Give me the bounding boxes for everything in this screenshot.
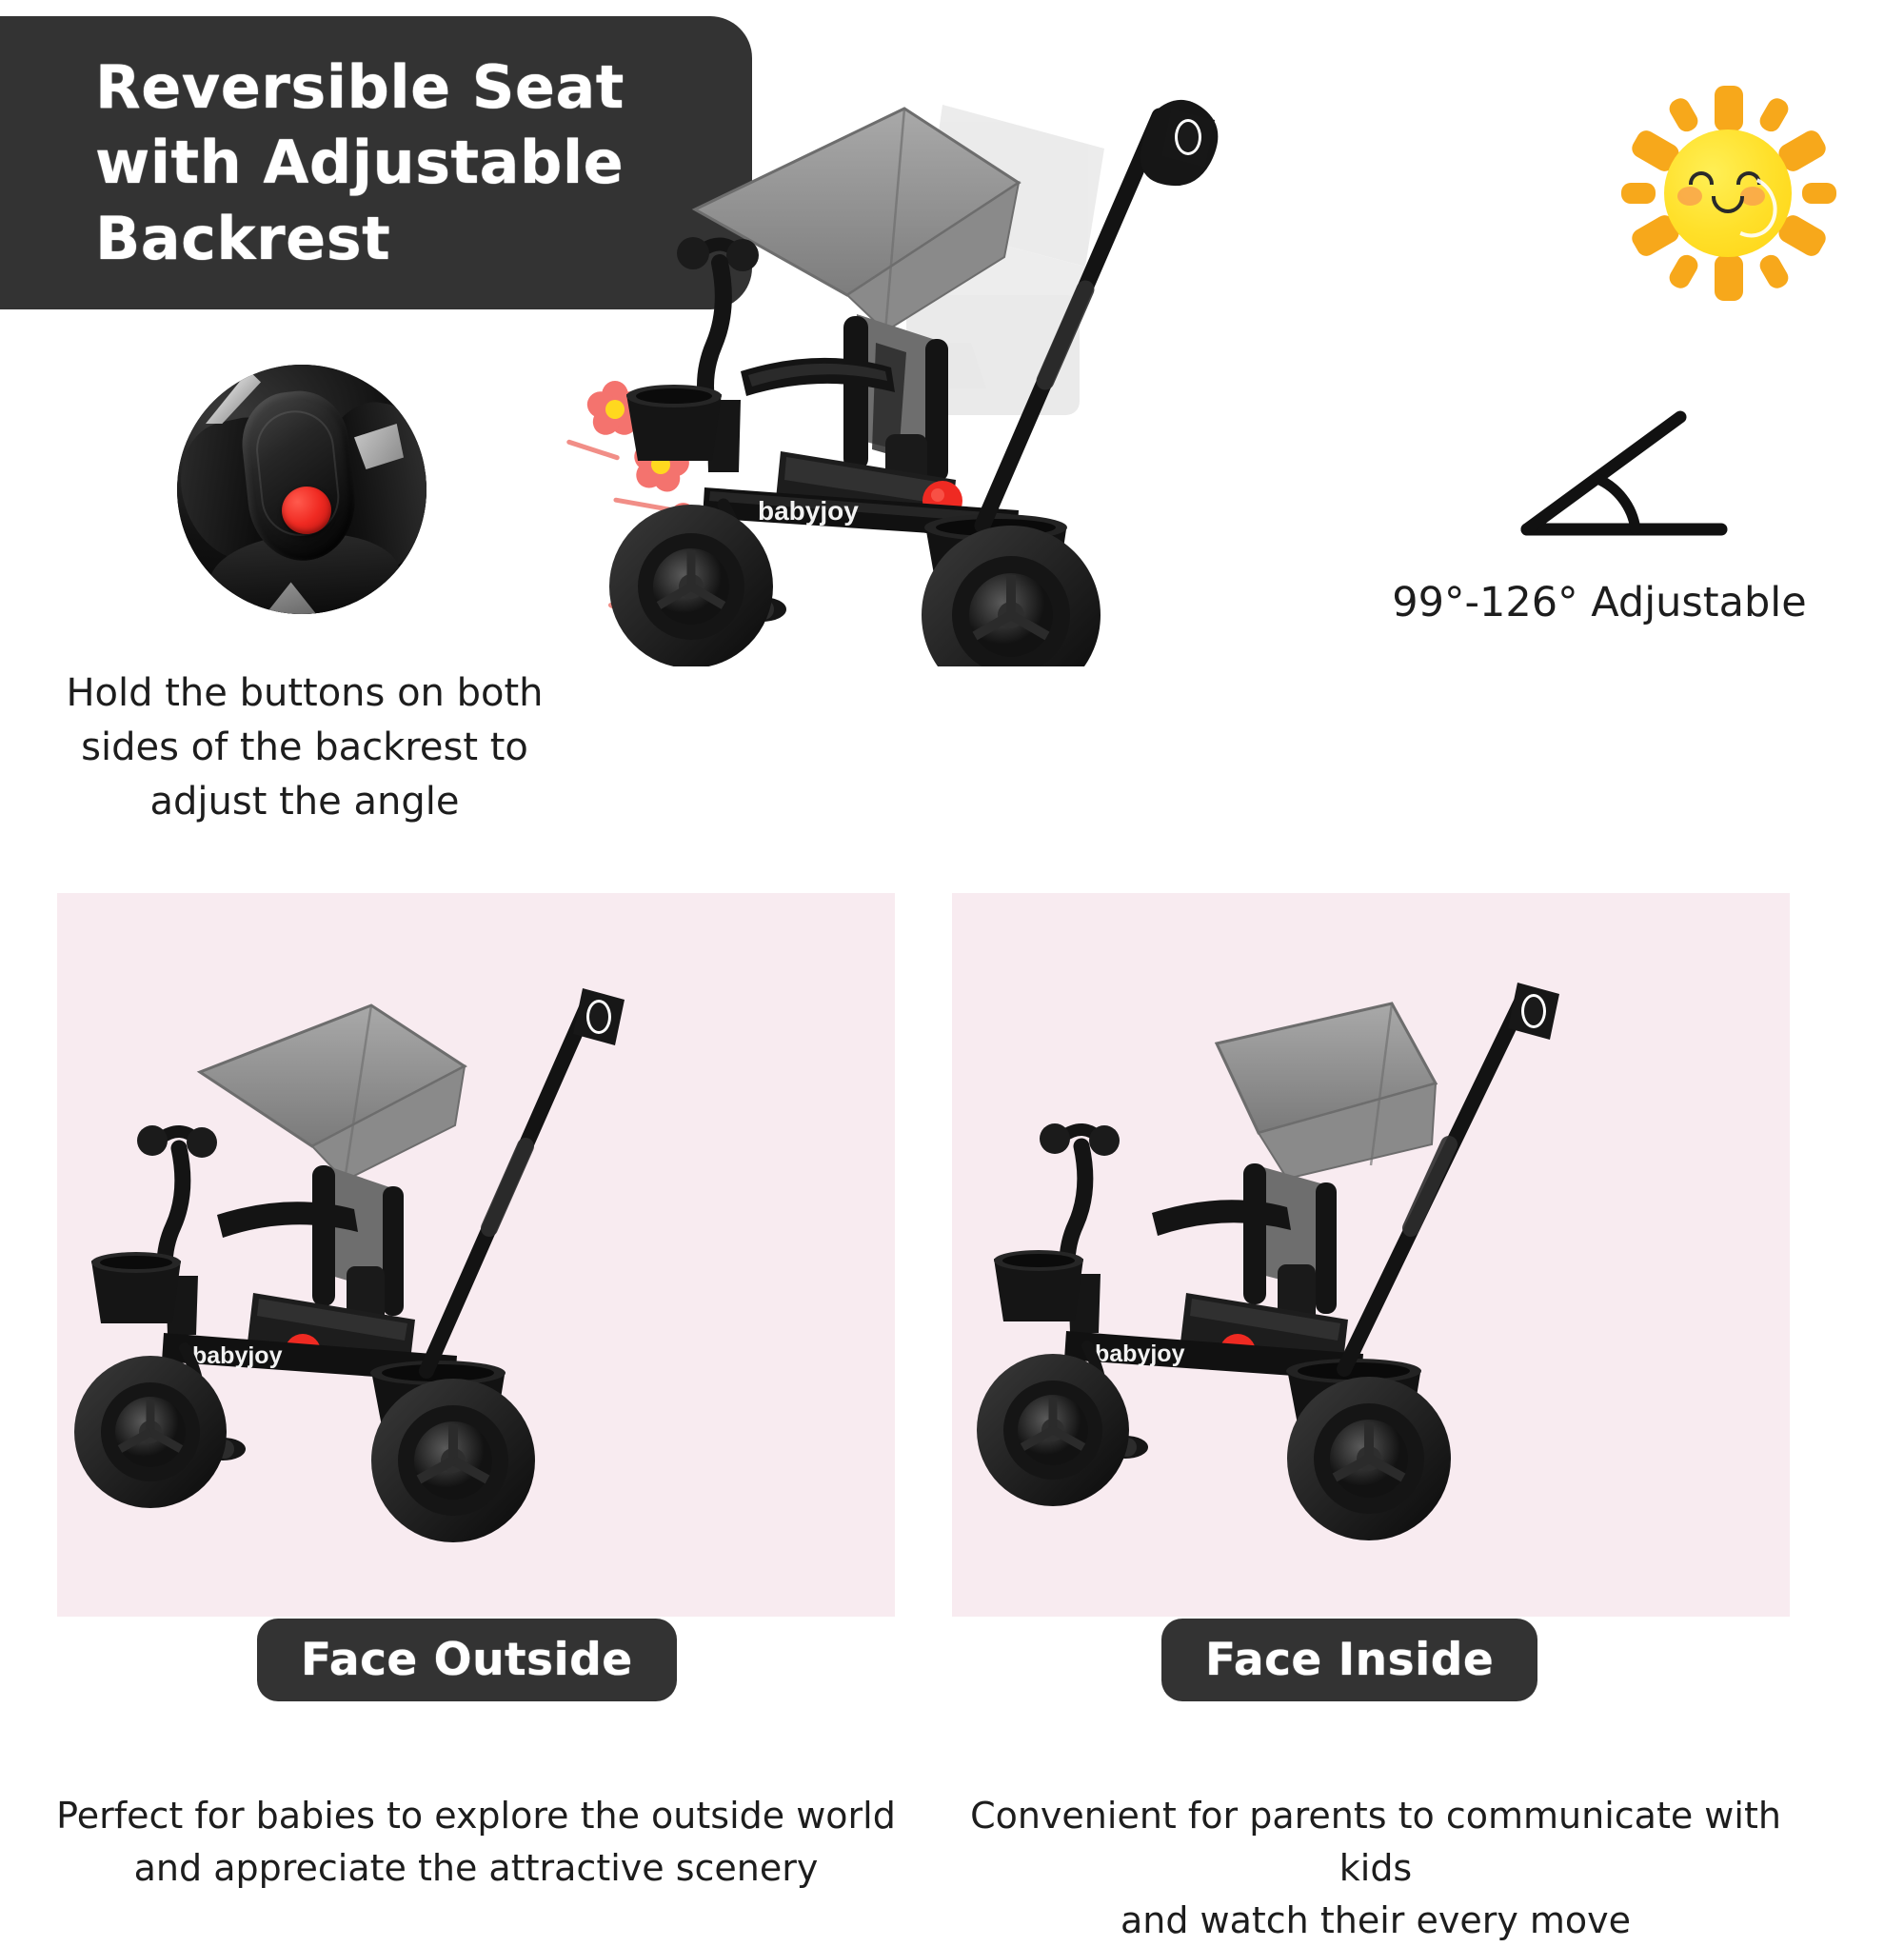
badge-face-inside: Face Inside bbox=[1161, 1619, 1537, 1701]
caption-right-line-2: and watch their every move bbox=[952, 1895, 1799, 1947]
push-handle bbox=[426, 988, 625, 1371]
front-wheel bbox=[74, 1356, 227, 1508]
front-wheel bbox=[609, 505, 773, 666]
brand-logo: babyjoy bbox=[192, 1342, 283, 1369]
seat-assembly bbox=[217, 1165, 415, 1370]
page-title-line-2: with Adjustable bbox=[95, 125, 625, 200]
page-title: Reversible Seat with Adjustable Backrest bbox=[95, 50, 625, 276]
rear-wheel bbox=[1287, 1377, 1451, 1540]
sun-cheek-left bbox=[1677, 187, 1702, 206]
page-title-line-3: Backrest bbox=[95, 201, 625, 276]
front-basket bbox=[91, 1252, 181, 1323]
instruction-line-3: adjust the angle bbox=[48, 775, 562, 829]
instruction-line-1: Hold the buttons on both bbox=[48, 666, 562, 721]
front-basket bbox=[626, 385, 722, 461]
sun-eye-left bbox=[1689, 171, 1714, 185]
brand-logo: babyjoy bbox=[758, 496, 859, 526]
panel-face-outside: babyjoy bbox=[57, 893, 895, 1617]
front-basket bbox=[994, 1250, 1083, 1321]
front-wheel bbox=[977, 1354, 1129, 1506]
rear-wheel bbox=[371, 1379, 535, 1542]
brand-logo: babyjoy bbox=[1095, 1341, 1185, 1367]
caption-face-outside: Perfect for babies to explore the outsid… bbox=[52, 1790, 900, 1895]
sun-gloss bbox=[1712, 168, 1787, 247]
caption-left-line-1: Perfect for babies to explore the outsid… bbox=[52, 1790, 900, 1842]
caption-left-line-2: and appreciate the attractive scenery bbox=[52, 1842, 900, 1895]
smiling-sun-icon bbox=[1618, 84, 1837, 303]
instruction-line-2: sides of the backrest to bbox=[48, 721, 562, 775]
page-title-line-1: Reversible Seat bbox=[95, 50, 625, 125]
caption-right-line-1: Convenient for parents to communicate wi… bbox=[952, 1790, 1799, 1895]
seat-assembly bbox=[1152, 1163, 1348, 1370]
panel-face-inside: babyjoy bbox=[952, 893, 1790, 1617]
caption-face-inside: Convenient for parents to communicate wi… bbox=[952, 1790, 1799, 1947]
badge-face-outside: Face Outside bbox=[257, 1619, 677, 1701]
sun-body bbox=[1664, 129, 1792, 257]
backrest-release-button-closeup bbox=[177, 365, 426, 614]
instruction-text: Hold the buttons on both sides of the ba… bbox=[48, 666, 562, 828]
canopy bbox=[1217, 1003, 1436, 1179]
canopy bbox=[200, 1005, 465, 1181]
hero-product-image: babyjoy bbox=[571, 57, 1580, 666]
